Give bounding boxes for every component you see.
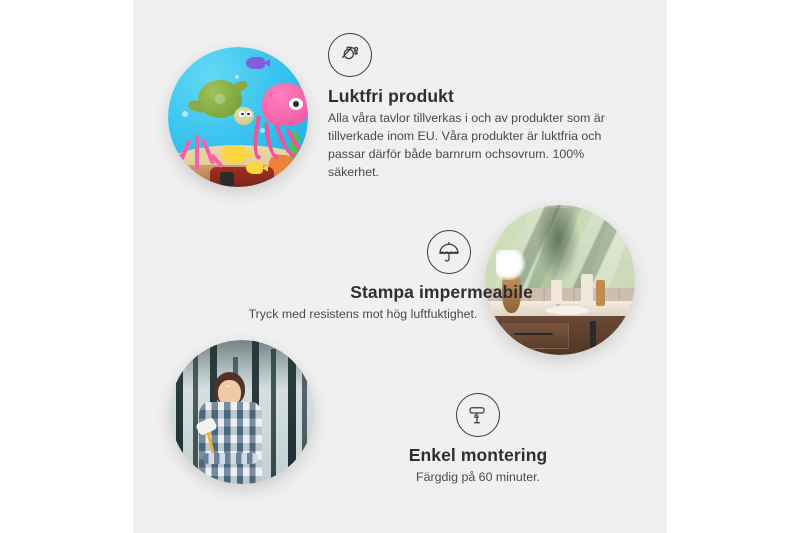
feature-panel: Luktfri produkt Alla våra tavlor tillver… bbox=[133, 0, 667, 533]
octopus-icon bbox=[252, 83, 308, 156]
icon-row bbox=[328, 393, 628, 445]
feature-description: Tryck med resistens mot hög luftfuktighe… bbox=[193, 306, 533, 324]
feature-title: Luktfri produkt bbox=[328, 86, 638, 107]
paint-roller-icon bbox=[456, 393, 500, 437]
feature-description: Färgdig på 60 minuter. bbox=[328, 469, 628, 487]
feature-block-waterproof: Stampa impermeabile Tryck med resistens … bbox=[193, 230, 533, 324]
no-perfume-icon bbox=[328, 33, 372, 77]
feature-block-odor-free: Luktfri produkt Alla våra tavlor tillver… bbox=[328, 33, 638, 182]
bottle-icon bbox=[581, 274, 593, 306]
bubble-icon bbox=[182, 111, 188, 117]
yellow-fish-icon bbox=[246, 162, 263, 175]
photo-woman-paint-roller bbox=[170, 340, 314, 484]
feature-description: Alla våra tavlor tillverkas i och av pro… bbox=[328, 110, 628, 182]
icon-row bbox=[328, 33, 638, 86]
feature-block-easy-mounting: Enkel montering Färgdig på 60 minuter. bbox=[328, 393, 628, 487]
dark-leaf-accent bbox=[536, 208, 581, 286]
bottle-icon bbox=[596, 280, 605, 306]
feature-title: Stampa impermeabile bbox=[193, 282, 533, 303]
shipwreck bbox=[210, 167, 274, 187]
icon-row bbox=[193, 230, 533, 282]
yellow-fish-icon bbox=[221, 145, 245, 163]
bottle-icon bbox=[551, 280, 562, 304]
turtle-icon bbox=[190, 78, 252, 134]
umbrella-icon bbox=[427, 230, 471, 274]
screenshot-root: Luktfri produkt Alla våra tavlor tillver… bbox=[0, 0, 800, 533]
feature-title: Enkel montering bbox=[328, 445, 628, 466]
woman-figure bbox=[193, 372, 268, 484]
photo-ocean-mural bbox=[168, 47, 308, 187]
sink-basin bbox=[545, 304, 590, 315]
purple-fish-icon bbox=[246, 57, 264, 70]
